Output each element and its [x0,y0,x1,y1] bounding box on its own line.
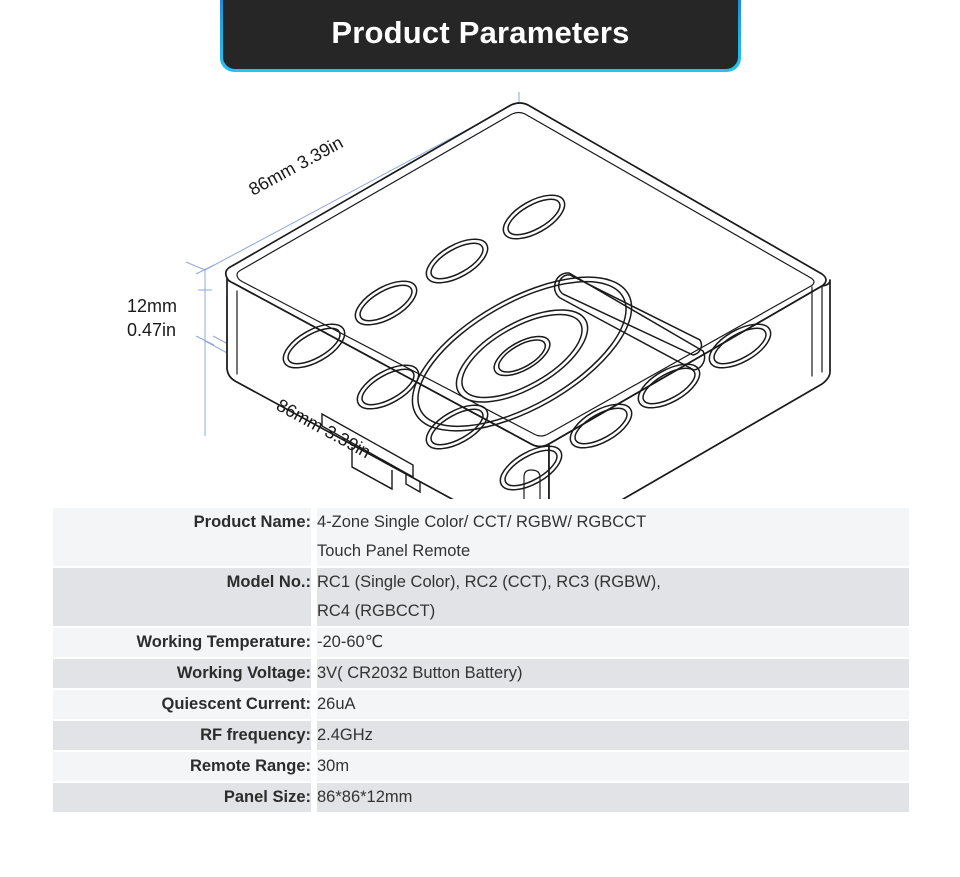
specification-table: Product Name: 4-Zone Single Color/ CCT/ … [53,506,909,814]
product-drawing: 86mm 3.39in 86mm 3.39in 12mm 0.47in [0,84,960,499]
spec-value: 86*86*12mm [317,783,909,812]
spec-value: 26uA [317,690,909,719]
table-row: Product Name: 4-Zone Single Color/ CCT/ … [53,508,909,566]
spec-label: Product Name: [53,508,311,566]
header-bar: Product Parameters [223,0,738,69]
spec-value-line: 30m [317,752,909,781]
table-row: Model No.: RC1 (Single Color), RC2 (CCT)… [53,568,909,626]
spec-value: 3V( CR2032 Button Battery) [317,659,909,688]
spec-value-line: Touch Panel Remote [317,537,909,566]
spec-label: Panel Size: [53,783,311,812]
table-row: Working Voltage: 3V( CR2032 Button Batte… [53,659,909,688]
spec-label: Quiescent Current: [53,690,311,719]
dimension-label-height-in: 0.47in [127,320,176,340]
spec-label: Working Voltage: [53,659,311,688]
product-parameters-page: Product Parameters [0,0,960,877]
table-row: Remote Range: 30m [53,752,909,781]
dimension-label-height-mm: 12mm [127,296,177,316]
spec-value: 2.4GHz [317,721,909,750]
header-banner: Product Parameters [220,0,741,72]
spec-label: Working Temperature: [53,628,311,657]
spec-value: 30m [317,752,909,781]
spec-value-line: 3V( CR2032 Button Battery) [317,659,909,688]
table-row: RF frequency: 2.4GHz [53,721,909,750]
specification-table-body: Product Name: 4-Zone Single Color/ CCT/ … [53,508,909,812]
spec-value: -20-60℃ [317,628,909,657]
spec-value-line: 4-Zone Single Color/ CCT/ RGBW/ RGBCCT [317,508,909,537]
spec-label: Model No.: [53,568,311,626]
spec-value-line: 86*86*12mm [317,783,909,812]
spec-value-line: 26uA [317,690,909,719]
table-row: Working Temperature: -20-60℃ [53,628,909,657]
spec-value-line: RC4 (RGBCCT) [317,597,909,626]
spec-label: Remote Range: [53,752,311,781]
table-row: Panel Size: 86*86*12mm [53,783,909,812]
spec-value-line: 2.4GHz [317,721,909,750]
spec-label: RF frequency: [53,721,311,750]
spec-value: RC1 (Single Color), RC2 (CCT), RC3 (RGBW… [317,568,909,626]
page-title: Product Parameters [331,15,629,51]
spec-value-line: RC1 (Single Color), RC2 (CCT), RC3 (RGBW… [317,568,909,597]
spec-value-line: -20-60℃ [317,628,909,657]
dimension-label-top: 86mm 3.39in [245,132,346,199]
spec-value: 4-Zone Single Color/ CCT/ RGBW/ RGBCCT T… [317,508,909,566]
table-row: Quiescent Current: 26uA [53,690,909,719]
